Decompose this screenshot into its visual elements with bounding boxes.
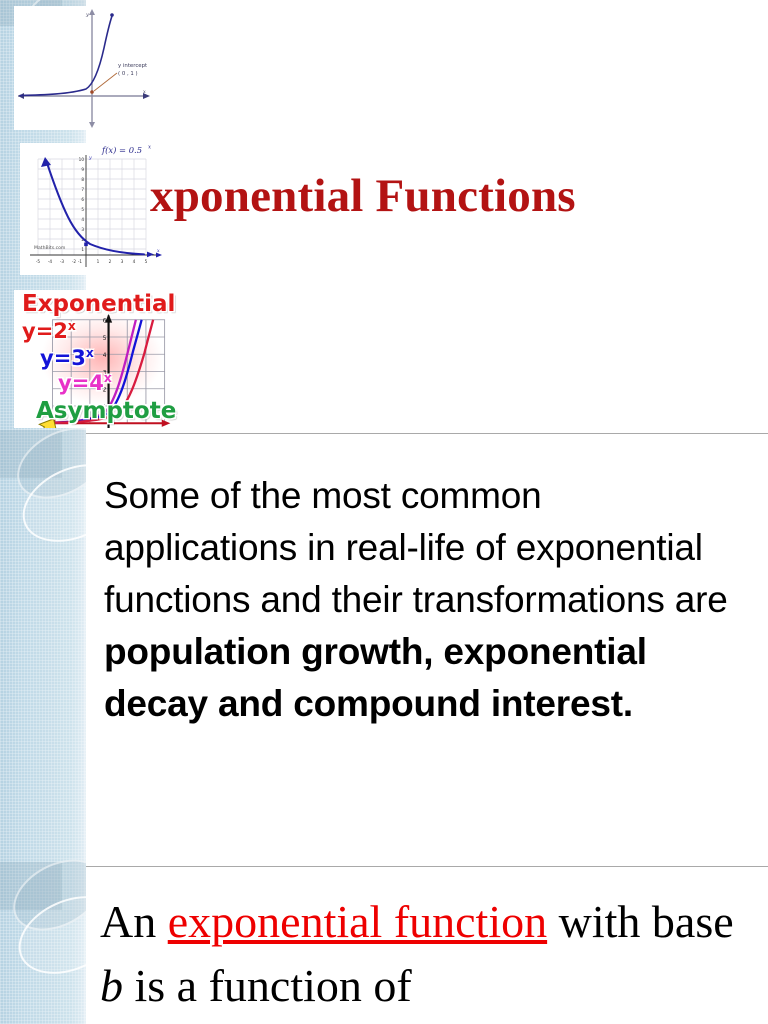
exponential-growth-graph-image: y intercept ( 0 , 1 ) x y bbox=[14, 6, 154, 130]
body-lead-text: Some of the most common applications in … bbox=[104, 475, 728, 620]
svg-text:4: 4 bbox=[133, 259, 136, 264]
definition-paragraph: An exponential function with base b is a… bbox=[100, 890, 768, 1018]
section-divider bbox=[86, 866, 768, 867]
definition-highlight-term: exponential function bbox=[168, 896, 547, 947]
section-divider bbox=[86, 433, 768, 434]
poster-equation-2: y=3x bbox=[40, 347, 94, 369]
exponential-asymptote-poster-image: 654 321 -3-2-1 123 x Exponential bbox=[14, 290, 210, 428]
svg-text:MathBits.com: MathBits.com bbox=[34, 245, 66, 251]
svg-text:3: 3 bbox=[81, 227, 84, 232]
poster-footer: Asymptote bbox=[36, 400, 176, 423]
definition-variable: b bbox=[100, 960, 123, 1011]
svg-text:8: 8 bbox=[81, 177, 84, 182]
svg-text:x: x bbox=[143, 89, 146, 95]
poster-equation-1: y=2x bbox=[22, 320, 76, 342]
svg-text:5: 5 bbox=[103, 336, 107, 342]
slide-canvas: y intercept ( 0 , 1 ) x y bbox=[0, 0, 768, 1024]
svg-text:x: x bbox=[148, 145, 151, 151]
svg-text:4: 4 bbox=[81, 217, 84, 222]
svg-text:( 0 , 1 ): ( 0 , 1 ) bbox=[118, 71, 138, 77]
svg-text:-3: -3 bbox=[60, 259, 65, 264]
definition-suffix-b: is a function of bbox=[123, 960, 412, 1011]
svg-text:7: 7 bbox=[81, 187, 84, 192]
svg-text:5: 5 bbox=[145, 259, 148, 264]
svg-text:2: 2 bbox=[109, 259, 112, 264]
poster-heading: Exponential bbox=[22, 293, 175, 316]
svg-text:5: 5 bbox=[81, 207, 84, 212]
definition-prefix: An bbox=[100, 896, 168, 947]
svg-text:6: 6 bbox=[103, 319, 107, 325]
svg-text:1: 1 bbox=[97, 259, 100, 264]
svg-text:y: y bbox=[88, 156, 92, 161]
svg-text:-2: -2 bbox=[72, 259, 77, 264]
svg-text:1: 1 bbox=[81, 247, 84, 252]
svg-text:3: 3 bbox=[121, 259, 124, 264]
svg-text:9: 9 bbox=[81, 167, 84, 172]
svg-text:y intercept: y intercept bbox=[118, 63, 147, 69]
svg-text:6: 6 bbox=[81, 197, 84, 202]
growth-graph-svg: y intercept ( 0 , 1 ) x y bbox=[14, 6, 154, 130]
svg-text:y: y bbox=[85, 12, 89, 18]
svg-text:-4: -4 bbox=[48, 259, 53, 264]
body-paragraph: Some of the most common applications in … bbox=[104, 470, 744, 730]
svg-text:f(x) = 0.5: f(x) = 0.5 bbox=[101, 145, 142, 155]
svg-text:-1: -1 bbox=[78, 259, 83, 264]
svg-text:-5: -5 bbox=[36, 259, 41, 264]
svg-text:10: 10 bbox=[79, 157, 85, 162]
definition-suffix-a: with base bbox=[547, 896, 734, 947]
svg-text:x: x bbox=[157, 249, 160, 254]
svg-text:4: 4 bbox=[103, 353, 107, 359]
body-bold-text: population growth, exponential decay and… bbox=[104, 631, 647, 724]
poster-equation-3: y=4x bbox=[58, 372, 112, 394]
page-title: xponential Functions bbox=[150, 168, 750, 224]
